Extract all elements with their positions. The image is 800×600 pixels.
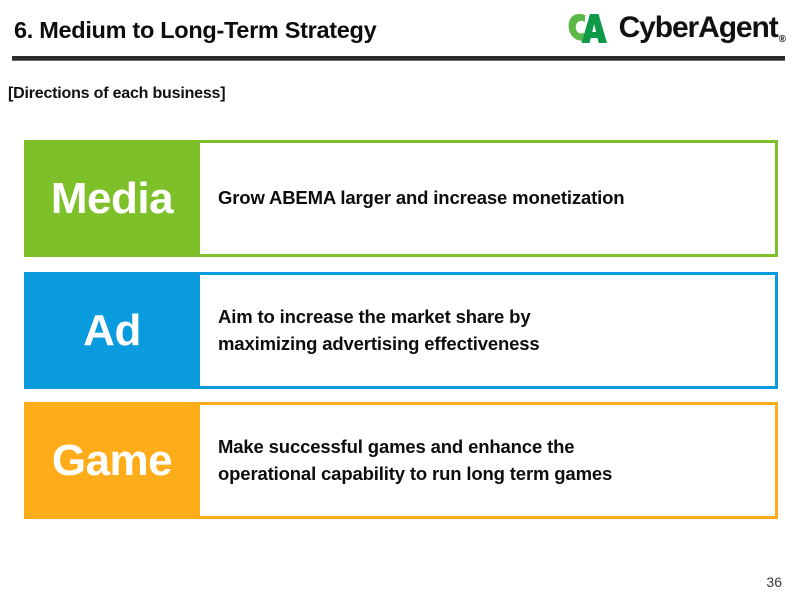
slide-header: 6. Medium to Long-Term Strategy CyberAge…: [0, 0, 800, 62]
business-description-ad-line2: maximizing advertising effectiveness: [218, 333, 540, 354]
business-panel-ad: Aim to increase the market share by maxi…: [200, 272, 778, 389]
business-description-ad: Aim to increase the market share by maxi…: [200, 304, 550, 357]
business-description-game-line2: operational capability to run long term …: [218, 463, 612, 484]
business-row-game: Game Make successful games and enhance t…: [24, 402, 778, 519]
ca-mark-icon: [568, 12, 614, 45]
business-panel-game: Make successful games and enhance the op…: [200, 402, 778, 519]
business-description-game-line1: Make successful games and enhance the: [218, 436, 574, 457]
business-panel-media: Grow ABEMA larger and increase monetizat…: [200, 140, 778, 257]
business-row-media: Media Grow ABEMA larger and increase mon…: [24, 140, 778, 257]
business-description-game: Make successful games and enhance the op…: [200, 434, 622, 487]
logo-wordmark: CyberAgent: [619, 13, 778, 43]
business-label-ad: Ad: [24, 272, 200, 389]
page-title: 6. Medium to Long-Term Strategy: [14, 17, 376, 44]
business-description-media: Grow ABEMA larger and increase monetizat…: [200, 185, 634, 211]
business-label-media: Media: [24, 140, 200, 257]
page-number: 36: [766, 574, 782, 590]
business-row-ad: Ad Aim to increase the market share by m…: [24, 272, 778, 389]
registered-trademark-icon: ®: [779, 34, 786, 48]
section-subtitle: [Directions of each business]: [8, 85, 225, 103]
header-divider: [12, 56, 785, 61]
business-label-game: Game: [24, 402, 200, 519]
business-description-ad-line1: Aim to increase the market share by: [218, 306, 530, 327]
cyberagent-logo: CyberAgent ®: [568, 8, 786, 48]
